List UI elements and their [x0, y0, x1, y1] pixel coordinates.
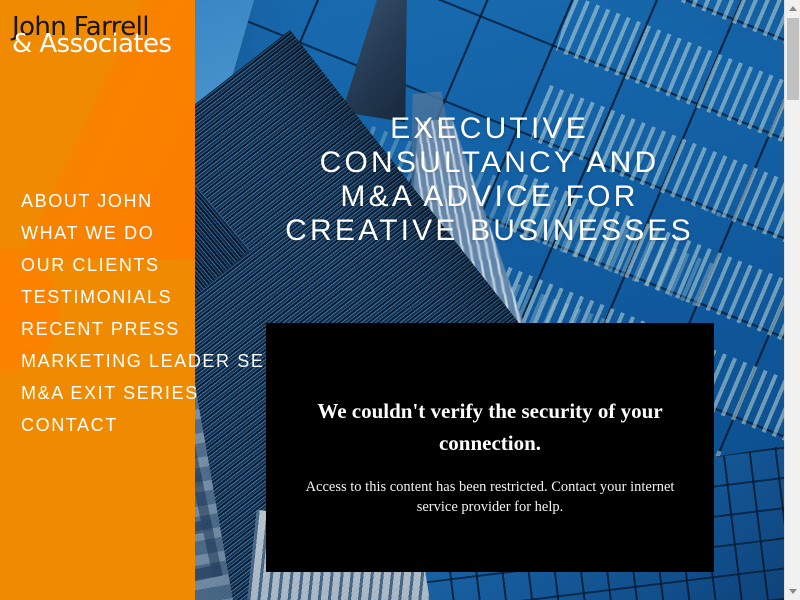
scrollbar-thumb[interactable] — [787, 18, 799, 100]
logo-secondary-text: & Associates — [12, 31, 187, 57]
sidebar: John Farrell & Associates ABOUT JOHN WHA… — [0, 0, 195, 600]
nav-item-testimonials[interactable]: TESTIMONIALS — [21, 281, 441, 313]
modal-title: We couldn't verify the security of your … — [300, 395, 680, 459]
vertical-scrollbar[interactable] — [784, 0, 800, 600]
security-interstitial-modal: We couldn't verify the security of your … — [266, 323, 714, 572]
page-content: EXECUTIVE CONSULTANCY AND M&A ADVICE FOR… — [0, 0, 784, 600]
nav-item-our-clients[interactable]: OUR CLIENTS — [21, 249, 441, 281]
nav-item-what-we-do[interactable]: WHAT WE DO — [21, 217, 441, 249]
triangle-up-icon — [789, 6, 797, 11]
site-logo[interactable]: John Farrell & Associates — [11, 14, 187, 64]
browser-viewport: EXECUTIVE CONSULTANCY AND M&A ADVICE FOR… — [0, 0, 800, 600]
scroll-down-button[interactable] — [785, 583, 800, 600]
nav-item-about-john[interactable]: ABOUT JOHN — [21, 185, 441, 217]
triangle-down-icon — [789, 589, 797, 594]
scroll-up-button[interactable] — [785, 0, 800, 17]
modal-body-text: Access to this content has been restrict… — [305, 477, 675, 517]
